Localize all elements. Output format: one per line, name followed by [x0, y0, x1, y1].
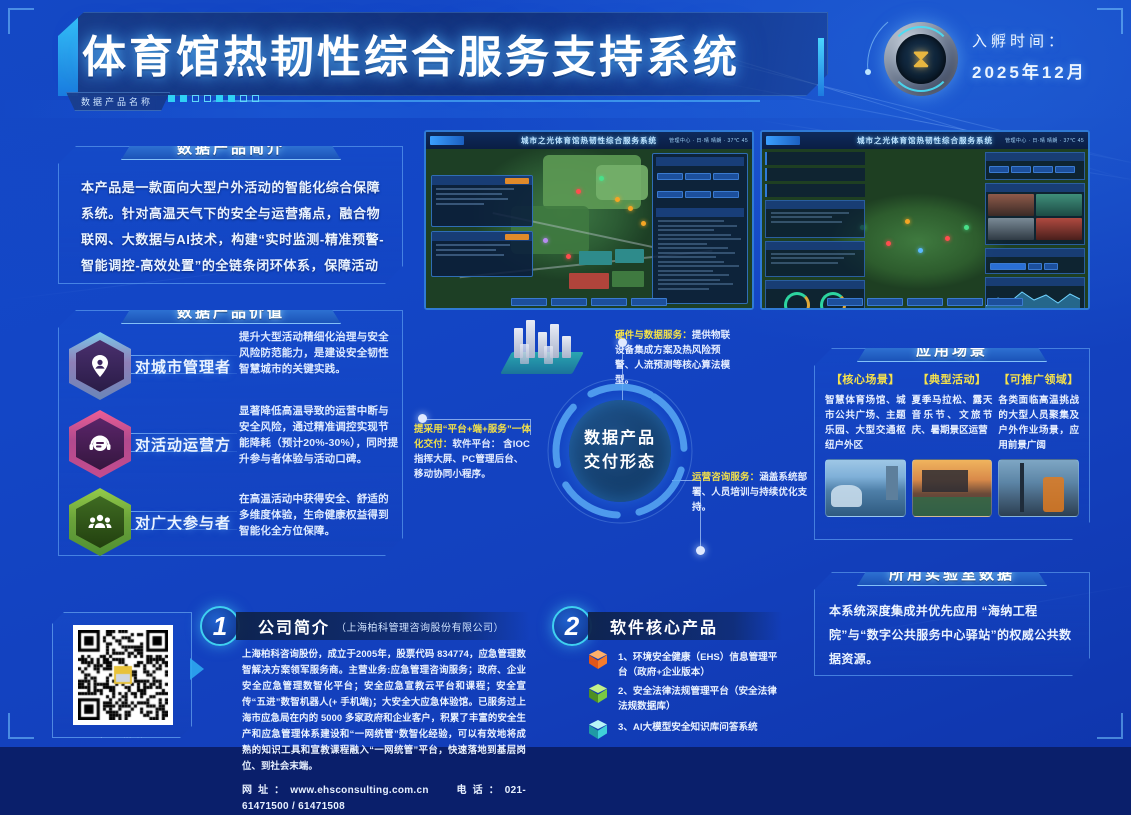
camera-feed[interactable]	[1036, 218, 1082, 240]
tel-label: 电话：	[451, 785, 505, 796]
bottom-button[interactable]	[631, 298, 667, 306]
qr-code-icon[interactable]	[73, 625, 173, 725]
outdoor-workers-photo	[998, 459, 1079, 517]
value-icon-wrap	[69, 488, 131, 556]
lab-data-panel: 所用实验室数据 本系统深度集成并优先应用 “海纳工程院”与“数字公共服务中心驿站…	[814, 572, 1090, 676]
incubation-value: 2025年12月	[972, 58, 1087, 83]
alert-list-block	[765, 241, 865, 277]
product-intro-panel: 数据产品简介 本产品是一款面向大型户外活动的智能化综合保障系统。针对高温天气下的…	[58, 146, 403, 284]
decor-dot-row	[168, 95, 259, 102]
scenario-core: 【核心场景】 智慧体育场馆、城市公共广场、主题乐园、大型交通枢纽户外区	[825, 371, 906, 517]
application-scenarios-tab: 应用场景	[857, 336, 1047, 362]
scenario-head: 【可推广领域】	[998, 371, 1079, 387]
shot2-body	[762, 149, 1088, 308]
alert-badge	[505, 178, 529, 184]
value-desc: 在高温活动中获得安全、舒适的多维度体验，生命健康权益得到智能化全方位保障。	[239, 491, 399, 539]
product-intro-tab: 数据产品简介	[121, 134, 341, 160]
company-intro-section: 1 公司简介 （上海柏科管理咨询股份有限公司） 上海柏科咨询股份，成立于2005…	[200, 606, 530, 747]
shot1-body	[426, 149, 752, 308]
shot1-topbar: 城市之光体育馆热韧性综合服务系统 管理中心 · 日·晴 晴朗 · 37℃ 45	[426, 132, 752, 149]
alert-card-header	[432, 232, 532, 241]
company-subtitle: （上海柏科管理咨询股份有限公司）	[336, 619, 504, 634]
software-item-text: 3、AI大模型安全知识库问答系统	[618, 720, 758, 735]
value-icon-wrap	[69, 332, 131, 400]
right-detail-panel[interactable]	[652, 153, 748, 304]
value-desc: 显著降低高温导致的运营中断与安全风险，通过精准调控实现节能降耗（预计20%-30…	[239, 403, 399, 467]
website-label: 网址：	[242, 785, 290, 796]
delivery-core: 数据产品 交付形态	[569, 400, 671, 502]
incubation-label: 入孵时间：	[972, 30, 1087, 51]
metric-row	[765, 152, 865, 165]
header-chevron-line	[200, 100, 760, 114]
left-metrics-column	[765, 152, 865, 305]
section-number-1: 1	[200, 606, 240, 646]
value-label: 对广大参与者	[135, 512, 231, 533]
camera-feed[interactable]	[988, 194, 1034, 216]
page-header: 体育馆热韧性综合服务支持系统 数据产品名称 ⧗ 入孵时间： 2025年12月	[0, 0, 1131, 118]
env-status-block	[985, 152, 1085, 180]
incubation-info: 入孵时间： 2025年12月	[972, 30, 1087, 83]
filter-chip[interactable]	[657, 191, 683, 198]
title-band-accent	[58, 12, 78, 96]
dashboard-screenshot-stadium[interactable]: 城市之光体育馆热韧性综合服务系统 管理中心 · 日·晴 晴朗 · 37℃ 45	[760, 130, 1090, 310]
cube-cyan-icon	[586, 720, 610, 744]
scenario-columns: 【核心场景】 智慧体育场馆、城市公共广场、主题乐园、大型交通枢纽户外区 【典型活…	[825, 371, 1079, 517]
delivery-ring: 数据产品 交付形态	[545, 376, 695, 526]
product-value-panel: 数据产品价值 对城市管理者 提升大型活动精细化治理与安全风险防范能力，是建设安全…	[58, 310, 403, 556]
callout-lead-line	[422, 419, 530, 420]
value-desc: 提升大型活动精细化治理与安全风险防范能力，是建设安全韧性智慧城市的关键实践。	[239, 329, 399, 377]
panel-header	[656, 157, 744, 166]
corner-decor-bottom-right	[1097, 713, 1123, 739]
bottom-button-bar[interactable]	[426, 298, 752, 306]
software-item-ai: 3、AI大模型安全知识库问答系统	[586, 720, 758, 744]
crowd-chart-block	[765, 200, 865, 238]
alert-card[interactable]	[431, 231, 533, 277]
alert-card[interactable]	[431, 175, 533, 227]
cube-green-icon	[586, 684, 610, 708]
filter-chip[interactable]	[657, 173, 683, 180]
qr-container: 客服微信	[52, 612, 192, 738]
device-status-block	[985, 248, 1085, 274]
city-stadium-photo	[825, 459, 906, 517]
camera-grid-block[interactable]	[985, 183, 1085, 245]
alert-badge	[505, 234, 529, 240]
software-header: 软件核心产品	[588, 612, 782, 640]
metric-row	[765, 184, 865, 197]
scenario-typical: 【典型活动】 夏季马拉松、露天音乐节、文旅节庆、暑期景区运营	[912, 371, 993, 517]
callout-platform-terminal-service: 提采用“平台+端+服务”一体化交付：软件平台： 含IOC指挥大屏、PC管理后台、…	[414, 422, 532, 482]
scenario-head: 【典型活动】	[912, 371, 993, 387]
bottom-button[interactable]	[591, 298, 627, 306]
bottom-button[interactable]	[987, 298, 1023, 306]
scenario-body: 智慧体育场馆、城市公共广场、主题乐园、大型交通枢纽户外区	[825, 393, 906, 453]
camera-feed[interactable]	[988, 218, 1034, 240]
dashboard-screenshot-map[interactable]: 城市之光体育馆热韧性综合服务系统 管理中心 · 日·晴 晴朗 · 37℃ 45	[424, 130, 754, 310]
shot1-meta: 管理中心 · 日·晴 晴朗 · 37℃ 45	[669, 137, 748, 144]
scenario-expandable: 【可推广领域】 各类面临高温挑战的大型人员聚集及户外作业场景，应用前景广阔	[998, 371, 1079, 517]
company-contact: 网址：www.ehsconsulting.com.cn电话：021-614715…	[242, 783, 526, 815]
product-intro-text: 本产品是一款面向大型户外活动的智能化综合保障系统。针对高温天气下的安全与运营痛点…	[81, 175, 387, 305]
scenario-body: 各类面临高温挑战的大型人员聚集及户外作业场景，应用前景广阔	[998, 393, 1079, 453]
lab-data-tab: 所用实验室数据	[857, 560, 1047, 586]
company-body: 上海柏科咨询股份，成立于2005年，股票代码 834774，应急管理数智解决方案…	[242, 646, 526, 815]
lab-data-text: 本系统深度集成并优先应用 “海纳工程院”与“数字公共服务中心驿站”的权威公共数据…	[829, 599, 1075, 671]
callout-operation-consulting-service: 运营咨询服务：涵盖系统部署、人员培训与持续优化支持。	[692, 470, 810, 515]
filter-chip[interactable]	[685, 191, 711, 198]
company-description: 上海柏科咨询股份，成立于2005年，股票代码 834774，应急管理数智解决方案…	[242, 648, 526, 771]
scenario-body: 夏季马拉松、露天音乐节、文旅节庆、暑期景区运营	[912, 393, 993, 453]
value-label: 对城市管理者	[135, 356, 231, 377]
delivery-center-line2: 交付形态	[584, 451, 656, 475]
camera-feed[interactable]	[1036, 194, 1082, 216]
server-stack-icon	[502, 322, 582, 378]
application-scenarios-panel: 应用场景 【核心场景】 智慧体育场馆、城市公共广场、主题乐园、大型交通枢纽户外区…	[814, 348, 1090, 540]
title-band-accent-right	[818, 38, 824, 96]
callout-hardware-data-service: 硬件与数据服务：提供物联设备集成方案及热风险预警、人流预测等核心算法模型。	[615, 328, 733, 388]
callout-highlight: 运营咨询服务：	[692, 472, 759, 483]
emblem-inner: ⧗	[896, 34, 946, 84]
bottom-button[interactable]	[947, 298, 983, 306]
section-number-2: 2	[552, 606, 592, 646]
delivery-form-diagram: 数据产品 交付形态 硬件与数据服务：提供物联设备集成方案及热风险预警、人流预测等…	[410, 318, 810, 580]
qr-label: 客服微信	[53, 735, 191, 751]
incubation-emblem: ⧗	[884, 22, 958, 96]
delivery-center-line1: 数据产品	[584, 427, 656, 451]
scenario-head: 【核心场景】	[825, 371, 906, 387]
marathon-festival-photo	[912, 459, 993, 517]
right-monitor-column	[985, 152, 1085, 305]
filter-chip[interactable]	[713, 191, 739, 198]
alert-card-header	[432, 176, 532, 185]
filter-chip[interactable]	[713, 173, 739, 180]
value-icon-wrap	[69, 410, 131, 478]
shot2-topbar: 城市之光体育馆热韧性综合服务系统 管理中心 · 日·晴 晴朗 · 37℃ 45	[762, 132, 1088, 149]
bottom-button[interactable]	[551, 298, 587, 306]
callout-dot	[696, 546, 705, 555]
software-item-law: 2、安全法律法规管理平台（安全法律法规数据库）	[586, 684, 782, 714]
hourglass-icon: ⧗	[912, 43, 930, 75]
bottom-button[interactable]	[827, 298, 863, 306]
bottom-button[interactable]	[907, 298, 943, 306]
software-item-ehs: 1、环境安全健康（EHS）信息管理平台（政府+企业版本）	[586, 650, 782, 680]
software-item-text: 2、安全法律法规管理平台（安全法律法规数据库）	[618, 684, 782, 714]
panel-subheader	[656, 208, 744, 217]
company-title: 公司简介	[258, 614, 330, 638]
bottom-button-bar[interactable]	[762, 298, 1088, 306]
software-title: 软件核心产品	[610, 614, 718, 638]
subtitle-tag: 数据产品名称	[66, 92, 170, 111]
shot2-meta: 管理中心 · 日·晴 晴朗 · 37℃ 45	[1005, 137, 1084, 144]
website-value[interactable]: www.ehsconsulting.com.cn	[290, 785, 429, 796]
bottom-button[interactable]	[511, 298, 547, 306]
callout-highlight: 硬件与数据服务：	[615, 330, 692, 341]
corner-decor-bottom-left	[8, 713, 34, 739]
cube-orange-icon	[586, 650, 610, 674]
software-item-text: 1、环境安全健康（EHS）信息管理平台（政府+企业版本）	[618, 650, 782, 680]
software-products-section: 2 软件核心产品 1、环境安全健康（EHS）信息管理平台（政府+企业版本） 2、…	[552, 606, 782, 747]
product-value-tab: 数据产品价值	[121, 298, 341, 324]
company-header: 公司简介 （上海柏科管理咨询股份有限公司）	[236, 612, 530, 640]
value-label: 对活动运营方	[135, 434, 231, 455]
metric-row	[765, 168, 865, 181]
bottom-button[interactable]	[867, 298, 903, 306]
filter-chip[interactable]	[685, 173, 711, 180]
page-title: 体育馆热韧性综合服务支持系统	[82, 22, 782, 84]
